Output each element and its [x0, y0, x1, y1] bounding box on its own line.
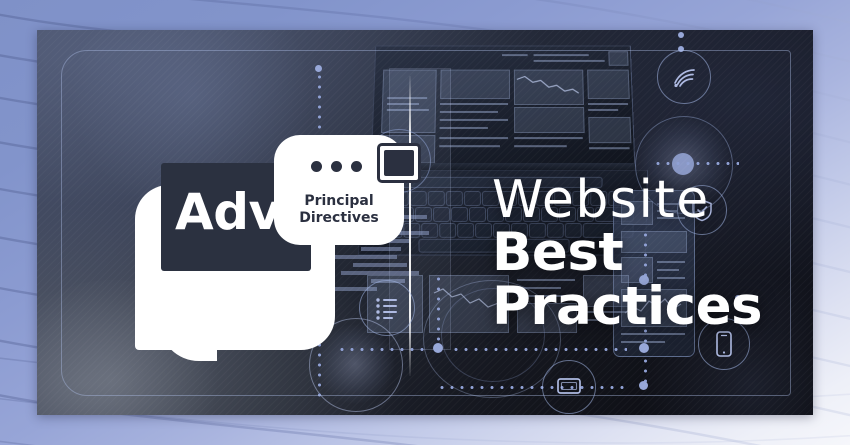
network-node-4	[639, 343, 649, 353]
headline-block: Website Best Practices	[492, 176, 813, 334]
connector-line-h2	[653, 162, 739, 165]
headline-line-1: Website	[492, 176, 813, 226]
headline-line-3: Practices	[492, 280, 813, 334]
network-node-6	[315, 65, 322, 72]
headline-line-2: Best	[492, 226, 813, 280]
dot-2	[331, 161, 342, 172]
connector-line-v3	[437, 274, 440, 346]
laptop-chart	[514, 70, 584, 105]
advise-logo[interactable]: Advise Principal Directives	[135, 135, 395, 365]
connector-line-h6	[437, 386, 629, 389]
logo-bubble-tail	[159, 303, 217, 361]
ellipsis-dots	[311, 161, 362, 172]
dot-1	[311, 161, 322, 172]
wifi-icon-circle	[657, 50, 711, 104]
tagline-line-2: Directives	[274, 210, 404, 227]
network-node-2	[433, 343, 443, 353]
vertical-highlight-line	[409, 76, 411, 376]
connector-line-h5	[451, 348, 627, 351]
network-node-5	[639, 381, 648, 390]
dot-3	[351, 161, 362, 172]
network-node-8	[678, 46, 684, 52]
network-node-7	[678, 32, 684, 38]
laptop-chart-line	[516, 74, 580, 100]
tagline-text: Principal Directives	[274, 193, 404, 227]
wifi-icon	[671, 66, 697, 88]
hero-panel: Advise Principal Directives Website Best…	[37, 30, 813, 415]
tagline-line-1: Principal	[274, 193, 404, 210]
logo-monitor-icon	[377, 143, 421, 183]
monitor-icon-circle	[542, 360, 596, 414]
monitor-icon	[556, 376, 582, 398]
